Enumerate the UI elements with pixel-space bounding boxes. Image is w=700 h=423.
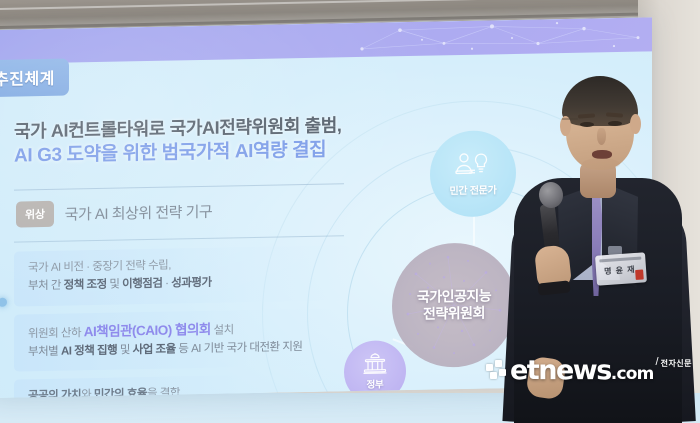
diagram-node-expert-label: 민간 전문가 [450,181,497,197]
speaker-right-ear [630,114,641,134]
speaker-chin [582,158,620,170]
speaker-glasses-arm [562,118,578,120]
speaker-name-badge: 명 윤 재 [595,252,647,285]
slide-section-tab: 추진체계 [0,59,69,98]
card-emphasis: AI책임관(CAIO) 협의회 [84,321,211,338]
name-badge-color-tag [635,269,644,280]
diagram-node-government: 정부 [344,340,406,398]
diagram-node-government-label: 정부 [367,376,384,390]
network-pattern-icon [352,17,652,57]
diagram-node-hub-label: 국가인공지능 전략위원회 [417,287,491,323]
etnews-korean-name: 전자신문 [661,358,692,369]
photo-stage: 추진체계 국가 AI컨트롤타워로 국가AI전략위원회 출범, AI G3 도약을… [0,0,700,423]
expert-person-lightbulb-icon [453,150,493,179]
connector-expert-hub [473,217,475,245]
status-row: 위상 국가 AI 최상위 전략 기구 [16,198,212,228]
etnews-domain-text: .com [611,364,654,384]
info-card-list: 국가 AI 비전 · 중장기 전략 수립, 부처 간 정책 조정 및 이행점검 … [14,245,350,398]
watermark-slash: / [656,356,659,368]
etnews-watermark: etnews.com / 전자신문 [486,356,692,384]
speaker-nose [597,128,606,145]
info-card: 국가 AI 비전 · 중장기 전략 수립, 부처 간 정책 조정 및 이행점검 … [14,245,350,306]
slide-headline: 국가 AI컨트롤타워로 국가AI전략위원회 출범, AI G3 도약을 위한 범… [14,111,484,170]
info-card: 위원회 산하 AI책임관(CAIO) 협의회 설치 부처별 AI 정책 집행 및… [14,308,350,372]
name-badge-header-line [599,257,641,263]
speaker-left-eye [580,122,594,127]
etnews-brand-text: etnews.com [510,357,654,384]
speaker-right-eye [608,121,622,126]
status-text: 국가 AI 최상위 전략 기구 [65,200,213,224]
government-building-icon [362,352,388,374]
etnews-logo-dots-icon [486,360,508,384]
name-badge-name: 명 윤 재 [604,264,636,277]
status-badge: 위상 [16,201,54,228]
